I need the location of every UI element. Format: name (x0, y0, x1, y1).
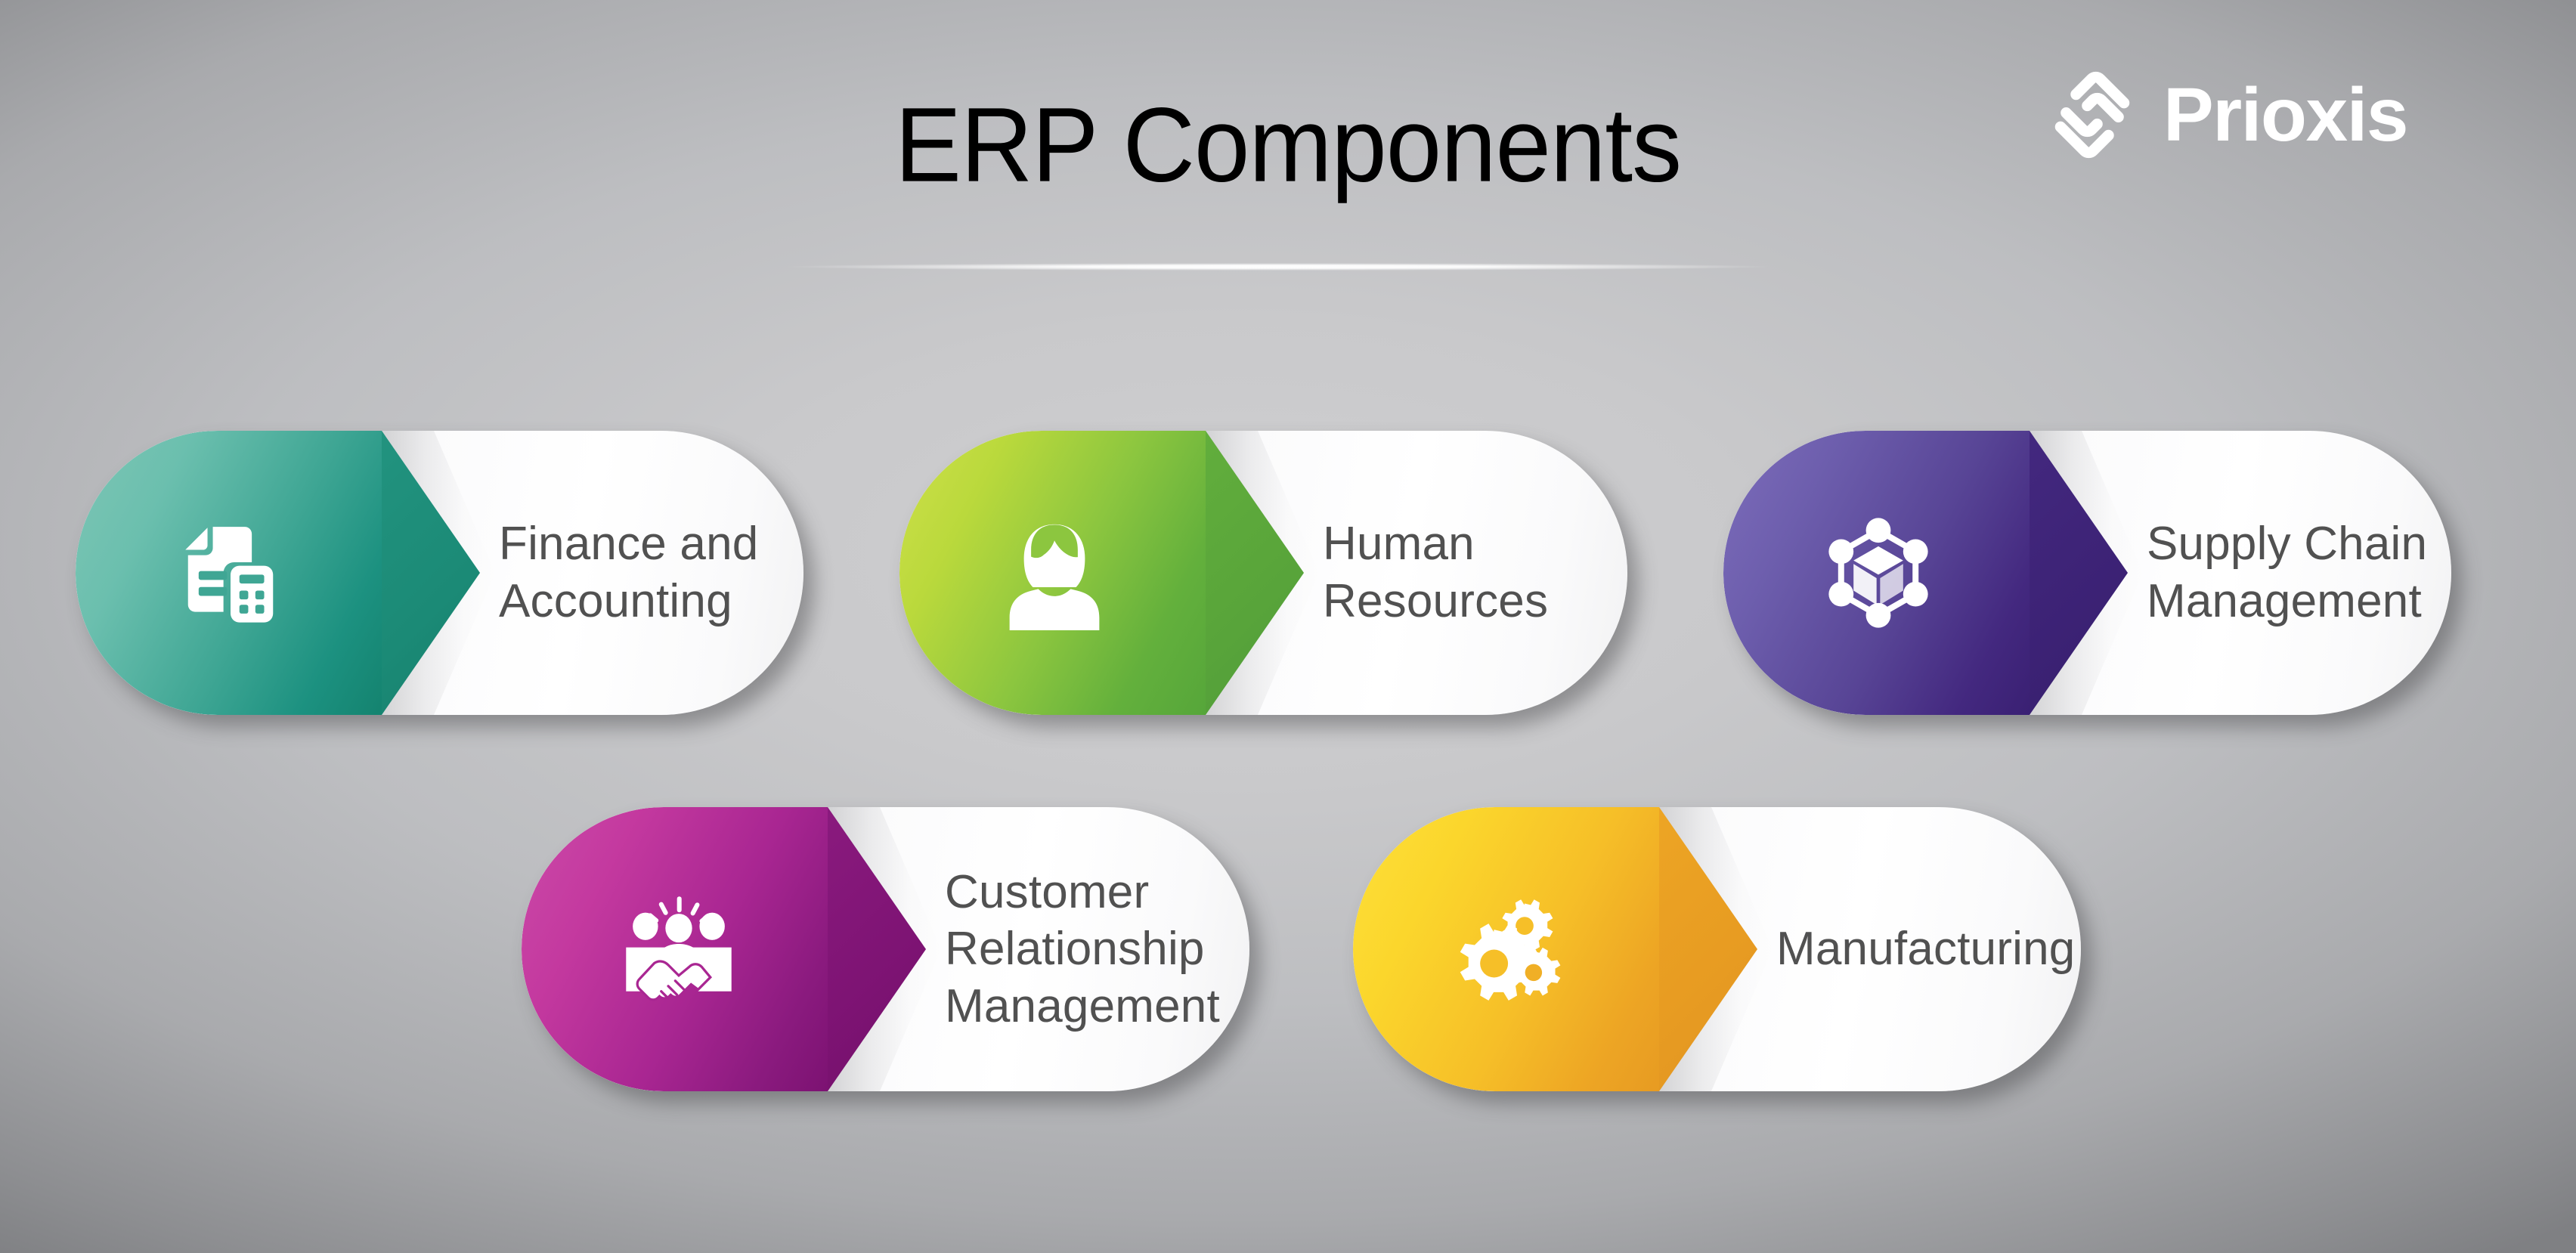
card-body: Finance and Accounting (76, 431, 803, 715)
card-label: Manufacturing (1776, 807, 2076, 1091)
person-female-icon (990, 509, 1119, 637)
chevron-point (382, 431, 480, 715)
handshake-people-icon (611, 881, 747, 1017)
chevron-point (828, 807, 926, 1091)
card-label-line: Supply Chain (2147, 515, 2427, 573)
card-label-line: Management (945, 978, 1220, 1035)
card-body: Customer Relationship Management (522, 807, 1249, 1091)
card-body: Manufacturing (1353, 807, 2081, 1091)
card-label: Human Resources (1323, 431, 1548, 715)
chevron-point (2030, 431, 2128, 715)
card-label: Customer Relationship Management (945, 807, 1220, 1091)
chevron-point (1659, 807, 1757, 1091)
gears-icon (1442, 881, 1578, 1017)
card-body: Human Resources (899, 431, 1627, 715)
card-label-line: Accounting (499, 573, 758, 630)
card-human-resources[interactable]: Human Resources (899, 431, 1627, 715)
card-customer-relationship-management[interactable]: Customer Relationship Management (522, 807, 1249, 1091)
card-supply-chain-management[interactable]: Supply Chain Management (1723, 431, 2451, 715)
card-label-line: Manufacturing (1776, 920, 2076, 978)
infographic-canvas: ERP Components Prioxis (0, 0, 2576, 1253)
brand-logo[interactable]: Prioxis (2042, 65, 2407, 165)
title-divider (785, 263, 1773, 271)
card-label-line: Finance and (499, 515, 758, 573)
card-label-line: Human (1323, 515, 1548, 573)
card-label-line: Relationship (945, 920, 1220, 978)
card-label-line: Customer (945, 864, 1220, 921)
page-title-text: ERP Components (895, 92, 1681, 198)
card-manufacturing[interactable]: Manufacturing (1353, 807, 2081, 1091)
card-body: Supply Chain Management (1723, 431, 2451, 715)
prioxis-diamond-logo-icon (2042, 65, 2142, 165)
card-label: Finance and Accounting (499, 431, 758, 715)
card-label: Supply Chain Management (2147, 431, 2427, 715)
hexagon-node-cube-icon (1814, 509, 1943, 637)
card-label-line: Management (2147, 573, 2427, 630)
card-finance-and-accounting[interactable]: Finance and Accounting (76, 431, 803, 715)
chevron-point (1206, 431, 1304, 715)
card-label-line: Resources (1323, 573, 1548, 630)
brand-name: Prioxis (2163, 77, 2407, 153)
document-calculator-icon (166, 509, 295, 637)
